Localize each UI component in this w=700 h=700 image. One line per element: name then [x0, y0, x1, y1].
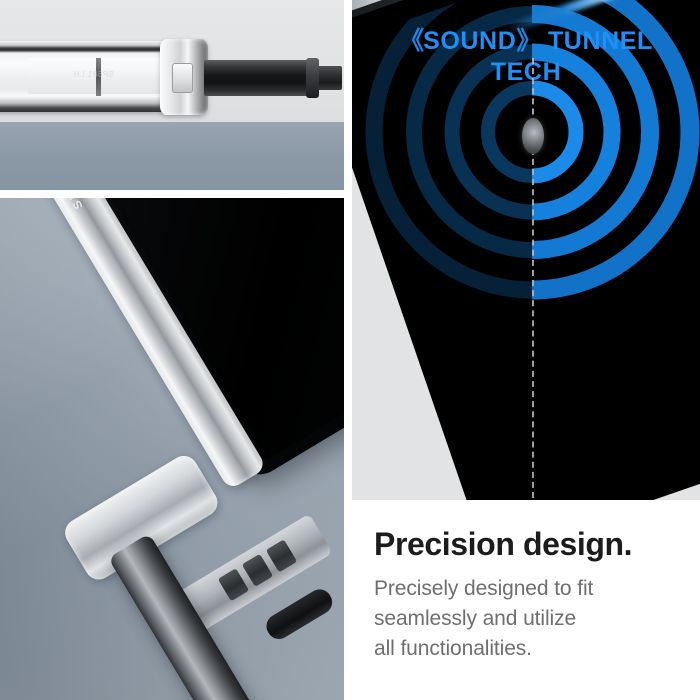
panel-stylus-insert: SP681 LH	[0, 0, 344, 190]
case-cap-slot	[172, 63, 193, 93]
sound-title-word-tunnel: TUNNEL	[548, 27, 653, 55]
copy-body: Precisely designed to fit seamlessly and…	[374, 574, 700, 664]
stylus-end-knob	[306, 58, 319, 98]
copy-headline: Precision design.	[374, 526, 700, 562]
product-feature-image: SP681 LH spigen 《	[0, 0, 700, 700]
copy-body-line: seamlessly and utilize	[374, 604, 700, 634]
sound-title-line-1: 《SOUND》 TUNNEL	[352, 26, 700, 57]
insert-backdrop-steel	[0, 122, 344, 190]
sound-wave-bracket-open-icon: 《	[399, 26, 423, 57]
sound-title-word-sound: SOUND	[423, 27, 516, 55]
sound-header: 《SOUND》 TUNNEL TECH	[352, 0, 700, 88]
copy-body-line: Precisely designed to fit	[374, 574, 700, 604]
copy-body-line: all functionalities.	[374, 634, 700, 664]
stylus-shaft	[204, 60, 314, 96]
case-emboss-text: SP681 LH	[54, 70, 114, 82]
panel-copy: Precision design. Precisely designed to …	[352, 500, 700, 700]
pen-slot-tooth	[218, 568, 249, 601]
pen-slot-tooth	[266, 539, 297, 572]
sound-wave-bracket-close-icon: 》	[516, 26, 540, 57]
sound-title-line-2: TECH	[352, 57, 700, 88]
panel-stylus-out: spigen	[0, 198, 344, 700]
case-end-cap	[160, 39, 208, 115]
panel-sound-tunnel: 《SOUND》 TUNNEL TECH	[352, 0, 700, 500]
speaker-port-icon	[522, 118, 544, 154]
pen-slot-tooth	[242, 554, 273, 587]
